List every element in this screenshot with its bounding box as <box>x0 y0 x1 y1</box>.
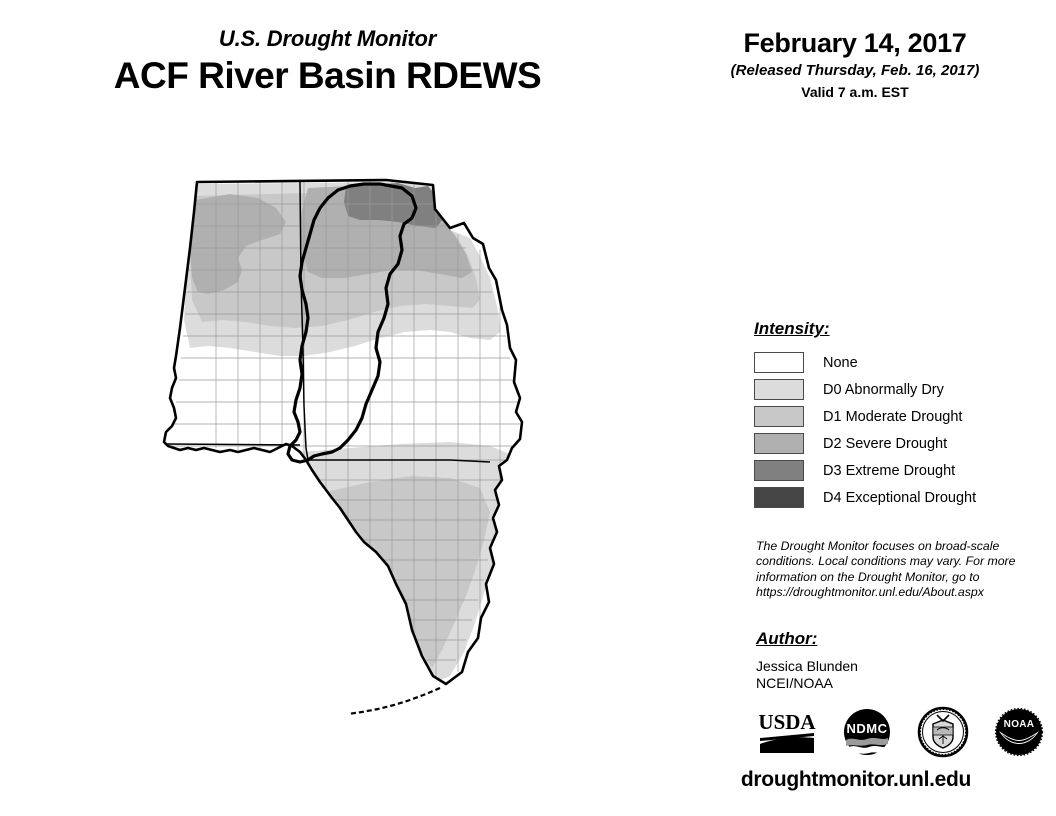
legend-row-d0[interactable]: D0 Abnormally Dry <box>754 376 1034 403</box>
legend-label-none: None <box>823 354 858 372</box>
ndmc-logo: NDMC <box>843 708 891 756</box>
legend-label-d2: D2 Severe Drought <box>823 435 947 453</box>
legend-row-d1[interactable]: D1 Moderate Drought <box>754 403 1034 430</box>
legend-row-d3[interactable]: D3 Extreme Drought <box>754 457 1034 484</box>
author-heading: Author: <box>756 628 1016 650</box>
alabama-florida-line <box>167 444 300 445</box>
header-right: February 14, 2017 (Released Thursday, Fe… <box>660 27 1050 102</box>
noaa-logo: NOAA <box>994 707 1044 757</box>
florida-keys <box>348 688 440 714</box>
page-title: ACF River Basin RDEWS <box>0 54 655 98</box>
legend-row-d2[interactable]: D2 Severe Drought <box>754 430 1034 457</box>
legend-label-d1: D1 Moderate Drought <box>823 408 962 426</box>
svg-text:NOAA: NOAA <box>1004 719 1035 730</box>
acf-river-basin-drought-map[interactable] <box>150 160 630 780</box>
legend-label-d3: D3 Extreme Drought <box>823 462 955 480</box>
legend-swatch-none <box>754 352 804 373</box>
valid-date: February 14, 2017 <box>660 27 1050 59</box>
svg-text:NDMC: NDMC <box>847 721 888 736</box>
legend-swatch-d4 <box>754 487 804 508</box>
agency-logo-row: USDA NDMC NOAA <box>756 702 1044 762</box>
legend-label-d4: D4 Exceptional Drought <box>823 489 976 507</box>
header-left: U.S. Drought Monitor ACF River Basin RDE… <box>0 26 655 98</box>
disclaimer-text: The Drought Monitor focuses on broad-sca… <box>756 539 1018 601</box>
legend-row-none[interactable]: None <box>754 349 1034 376</box>
usda-logo: USDA <box>756 707 818 757</box>
legend-label-d0: D0 Abnormally Dry <box>823 381 944 399</box>
svg-text:USDA: USDA <box>758 710 816 734</box>
legend-swatch-d1 <box>754 406 804 427</box>
legend-row-d4[interactable]: D4 Exceptional Drought <box>754 484 1034 511</box>
page-subtitle: U.S. Drought Monitor <box>0 26 655 52</box>
drought-map-svg[interactable] <box>150 160 630 780</box>
legend-swatch-d0 <box>754 379 804 400</box>
intensity-legend: Intensity: None D0 Abnormally Dry D1 Mod… <box>754 318 1034 511</box>
author-name: Jessica Blunden <box>756 658 1016 675</box>
usda-seal-logo <box>917 706 969 758</box>
author-block: Author: Jessica Blunden NCEI/NOAA <box>756 628 1016 692</box>
site-url[interactable]: droughtmonitor.unl.edu <box>660 768 1052 792</box>
author-affiliation: NCEI/NOAA <box>756 675 1016 692</box>
legend-heading: Intensity: <box>754 318 1034 340</box>
valid-time: Valid 7 a.m. EST <box>660 83 1050 102</box>
legend-swatch-d3 <box>754 460 804 481</box>
legend-swatch-d2 <box>754 433 804 454</box>
released-date: (Released Thursday, Feb. 16, 2017) <box>660 61 1050 81</box>
